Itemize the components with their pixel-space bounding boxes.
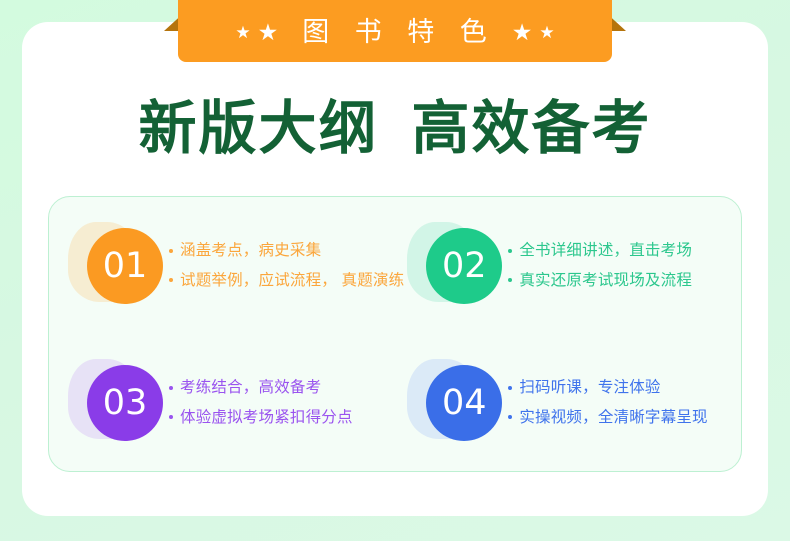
bullet-icon	[508, 415, 512, 419]
star-icon: ★	[539, 24, 554, 41]
feature-line: 实操视频，全清晰字幕呈现	[508, 409, 707, 426]
promo-page: ★ ★ 图 书 特 色 ★ ★ 新版大纲 高效备考 01 涵	[0, 0, 790, 541]
bullet-icon	[508, 278, 512, 282]
feature-line-text: 全书详细讲述，直击考场	[519, 242, 692, 259]
feature-badge-wrap-01: 01	[87, 228, 163, 304]
feature-line-text: 试题举例，应试流程， 真题演练	[180, 272, 404, 289]
star-icon: ★	[512, 21, 533, 44]
feature-item-04: 04 扫码听课，专注体验 实操视频，全清晰字幕呈现	[404, 334, 741, 471]
feature-line: 考练结合，高效备考	[169, 379, 353, 396]
feature-line-text: 涵盖考点，病史采集	[180, 242, 321, 259]
feature-badge-wrap-03: 03	[87, 365, 163, 441]
star-icon: ★	[235, 24, 250, 41]
feature-number-badge: 02	[426, 228, 502, 304]
feature-line: 体验虚拟考场紧扣得分点	[169, 409, 353, 426]
feature-line: 全书详细讲述，直击考场	[508, 242, 692, 259]
feature-item-01: 01 涵盖考点，病史采集 试题举例，应试流程， 真题演练	[49, 197, 404, 334]
section-header-ribbon: ★ ★ 图 书 特 色 ★ ★	[150, 0, 640, 68]
feature-line-text: 实操视频，全清晰字幕呈现	[519, 409, 707, 426]
feature-number-badge: 04	[426, 365, 502, 441]
bullet-icon	[169, 415, 173, 419]
feature-line-text: 考练结合，高效备考	[180, 379, 321, 396]
feature-line: 涵盖考点，病史采集	[169, 242, 404, 259]
feature-number-badge: 03	[87, 365, 163, 441]
feature-line: 扫码听课，专注体验	[508, 379, 707, 396]
feature-lines-02: 全书详细讲述，直击考场 真实还原考试现场及流程	[508, 242, 692, 288]
feature-line: 真实还原考试现场及流程	[508, 272, 692, 289]
bullet-icon	[169, 386, 173, 390]
star-icon: ★	[258, 21, 279, 44]
page-title: 新版大纲 高效备考	[0, 96, 790, 163]
ribbon-title: 图 书 特 色	[278, 19, 512, 46]
feature-item-02: 02 全书详细讲述，直击考场 真实还原考试现场及流程	[404, 197, 741, 334]
feature-lines-01: 涵盖考点，病史采集 试题举例，应试流程， 真题演练	[169, 242, 404, 288]
feature-item-03: 03 考练结合，高效备考 体验虚拟考场紧扣得分点	[49, 334, 404, 471]
feature-lines-03: 考练结合，高效备考 体验虚拟考场紧扣得分点	[169, 379, 353, 425]
features-grid: 01 涵盖考点，病史采集 试题举例，应试流程， 真题演练 02	[49, 197, 741, 471]
feature-badge-wrap-04: 04	[426, 365, 502, 441]
ribbon-stars-right: ★ ★	[512, 21, 555, 44]
bullet-icon	[169, 249, 173, 253]
feature-line-text: 体验虚拟考场紧扣得分点	[180, 409, 353, 426]
ribbon-stars-left: ★ ★	[235, 21, 278, 44]
bullet-icon	[508, 386, 512, 390]
feature-line-text: 真实还原考试现场及流程	[519, 272, 692, 289]
feature-badge-wrap-02: 02	[426, 228, 502, 304]
bullet-icon	[169, 278, 173, 282]
feature-line: 试题举例，应试流程， 真题演练	[169, 272, 404, 289]
feature-line-text: 扫码听课，专注体验	[519, 379, 660, 396]
ribbon-body: ★ ★ 图 书 特 色 ★ ★	[178, 0, 612, 62]
bullet-icon	[508, 249, 512, 253]
features-panel: 01 涵盖考点，病史采集 试题举例，应试流程， 真题演练 02	[48, 196, 742, 472]
feature-lines-04: 扫码听课，专注体验 实操视频，全清晰字幕呈现	[508, 379, 707, 425]
feature-number-badge: 01	[87, 228, 163, 304]
